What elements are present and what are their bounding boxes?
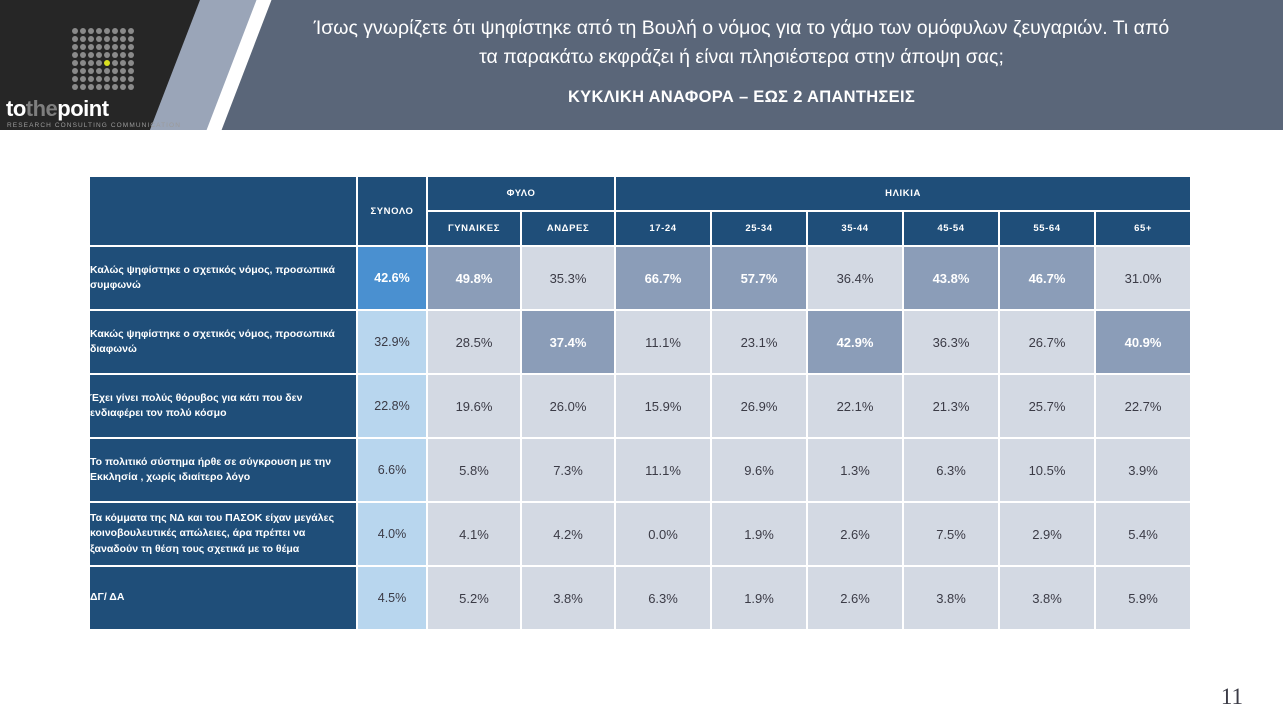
header-col-0: ΓΥΝΑΙΚΕΣ [428,212,520,245]
header-col-7: 65+ [1096,212,1190,245]
cell-value: 3.8% [1000,567,1094,629]
logo-word-to: to [6,96,26,121]
cell-total: 6.6% [358,439,426,501]
cell-value: 5.2% [428,567,520,629]
cell-value: 3.9% [1096,439,1190,501]
header-col-6: 55-64 [1000,212,1094,245]
table-head-row-groups: ΣΥΝΟΛΟ ΦΥΛΟ ΗΛΙΚΙΑ [90,177,1190,210]
cell-value: 43.8% [904,247,998,309]
row-label: Το πολιτικό σύστημα ήρθε σε σύγκρουση με… [90,439,356,501]
cell-total: 32.9% [358,311,426,373]
question-subtitle: ΚΥΚΛΙΚΗ ΑΝΑΦΟΡΑ – ΕΩΣ 2 ΑΠΑΝΤΗΣΕΙΣ [568,88,915,107]
cell-value: 19.6% [428,375,520,437]
cell-value: 1.3% [808,439,902,501]
table-row: Καλώς ψηφίστηκε ο σχετικός νόμος, προσωπ… [90,247,1190,309]
header-group-age: ΗΛΙΚΙΑ [616,177,1190,210]
cell-value: 26.0% [522,375,614,437]
cell-value: 2.6% [808,567,902,629]
cell-value: 36.3% [904,311,998,373]
header-total: ΣΥΝΟΛΟ [358,177,426,245]
logo-word-point: point [57,96,108,121]
cell-value: 1.9% [712,567,806,629]
cell-value: 3.8% [522,567,614,629]
cell-value: 28.5% [428,311,520,373]
row-label: Καλώς ψηφίστηκε ο σχετικός νόμος, προσωπ… [90,247,356,309]
header-col-5: 45-54 [904,212,998,245]
cell-value: 66.7% [616,247,710,309]
cell-value: 46.7% [1000,247,1094,309]
cell-total: 42.6% [358,247,426,309]
header-col-3: 25-34 [712,212,806,245]
cell-value: 7.3% [522,439,614,501]
cell-total: 4.0% [358,503,426,565]
cell-value: 22.1% [808,375,902,437]
cell-value: 15.9% [616,375,710,437]
logo-word-the: the [26,96,58,121]
cell-total: 4.5% [358,567,426,629]
cell-value: 10.5% [1000,439,1094,501]
table-row: Το πολιτικό σύστημα ήρθε σε σύγκρουση με… [90,439,1190,501]
table-row: Τα κόμματα της ΝΔ και του ΠΑΣΟΚ είχαν με… [90,503,1190,565]
table-row: Κακώς ψηφίστηκε ο σχετικός νόμος, προσωπ… [90,311,1190,373]
cell-value: 23.1% [712,311,806,373]
cell-value: 22.7% [1096,375,1190,437]
cell-value: 2.6% [808,503,902,565]
cell-value: 35.3% [522,247,614,309]
cell-value: 2.9% [1000,503,1094,565]
cell-value: 21.3% [904,375,998,437]
cell-value: 11.1% [616,311,710,373]
row-label: Έχει γίνει πολύς θόρυβος για κάτι που δε… [90,375,356,437]
logo-wordmark: tothepoint [6,96,109,122]
cell-value: 1.9% [712,503,806,565]
cell-value: 26.7% [1000,311,1094,373]
slide-header: tothepoint RESEARCH CONSULTING COMMUNICA… [0,0,1283,135]
header-group-gender: ΦΥΛΟ [428,177,614,210]
row-label: Κακώς ψηφίστηκε ο σχετικός νόμος, προσωπ… [90,311,356,373]
cell-value: 5.4% [1096,503,1190,565]
cell-value: 26.9% [712,375,806,437]
cell-value: 40.9% [1096,311,1190,373]
cell-value: 36.4% [808,247,902,309]
cell-value: 4.2% [522,503,614,565]
cell-value: 3.8% [904,567,998,629]
cell-value: 6.3% [616,567,710,629]
cell-value: 5.8% [428,439,520,501]
table-row: Έχει γίνει πολύς θόρυβος για κάτι που δε… [90,375,1190,437]
cell-value: 25.7% [1000,375,1094,437]
table-head: ΣΥΝΟΛΟ ΦΥΛΟ ΗΛΙΚΙΑ ΓΥΝΑΙΚΕΣ ΑΝΔΡΕΣ 17-24… [90,177,1190,245]
header-col-1: ΑΝΔΡΕΣ [522,212,614,245]
cell-value: 9.6% [712,439,806,501]
logo-tagline: RESEARCH CONSULTING COMMUNICATION [7,122,181,129]
cell-value: 37.4% [522,311,614,373]
row-label: ΔΓ/ ΔΑ [90,567,356,629]
results-table: ΣΥΝΟΛΟ ΦΥΛΟ ΗΛΙΚΙΑ ΓΥΝΑΙΚΕΣ ΑΝΔΡΕΣ 17-24… [88,175,1192,631]
table-row: ΔΓ/ ΔΑ4.5%5.2%3.8%6.3%1.9%2.6%3.8%3.8%5.… [90,567,1190,629]
results-table-container: ΣΥΝΟΛΟ ΦΥΛΟ ΗΛΙΚΙΑ ΓΥΝΑΙΚΕΣ ΑΝΔΡΕΣ 17-24… [88,175,1174,631]
header-col-2: 17-24 [616,212,710,245]
header-col-4: 35-44 [808,212,902,245]
brand-logo: tothepoint RESEARCH CONSULTING COMMUNICA… [0,14,148,132]
cell-value: 5.9% [1096,567,1190,629]
cell-value: 7.5% [904,503,998,565]
cell-value: 49.8% [428,247,520,309]
question-title: Ίσως γνωρίζετε ότι ψηφίστηκε από τη Βουλ… [307,14,1177,72]
row-label: Τα κόμματα της ΝΔ και του ΠΑΣΟΚ είχαν με… [90,503,356,565]
cell-value: 4.1% [428,503,520,565]
cell-value: 57.7% [712,247,806,309]
cell-value: 42.9% [808,311,902,373]
cell-value: 6.3% [904,439,998,501]
cell-value: 11.1% [616,439,710,501]
cell-value: 0.0% [616,503,710,565]
cell-value: 31.0% [1096,247,1190,309]
header-corner-blank [90,177,356,245]
cell-total: 22.8% [358,375,426,437]
header-divider [0,130,1283,135]
table-body: Καλώς ψηφίστηκε ο σχετικός νόμος, προσωπ… [90,247,1190,629]
page-number: 11 [1221,684,1243,710]
logo-dot-grid [72,28,135,91]
